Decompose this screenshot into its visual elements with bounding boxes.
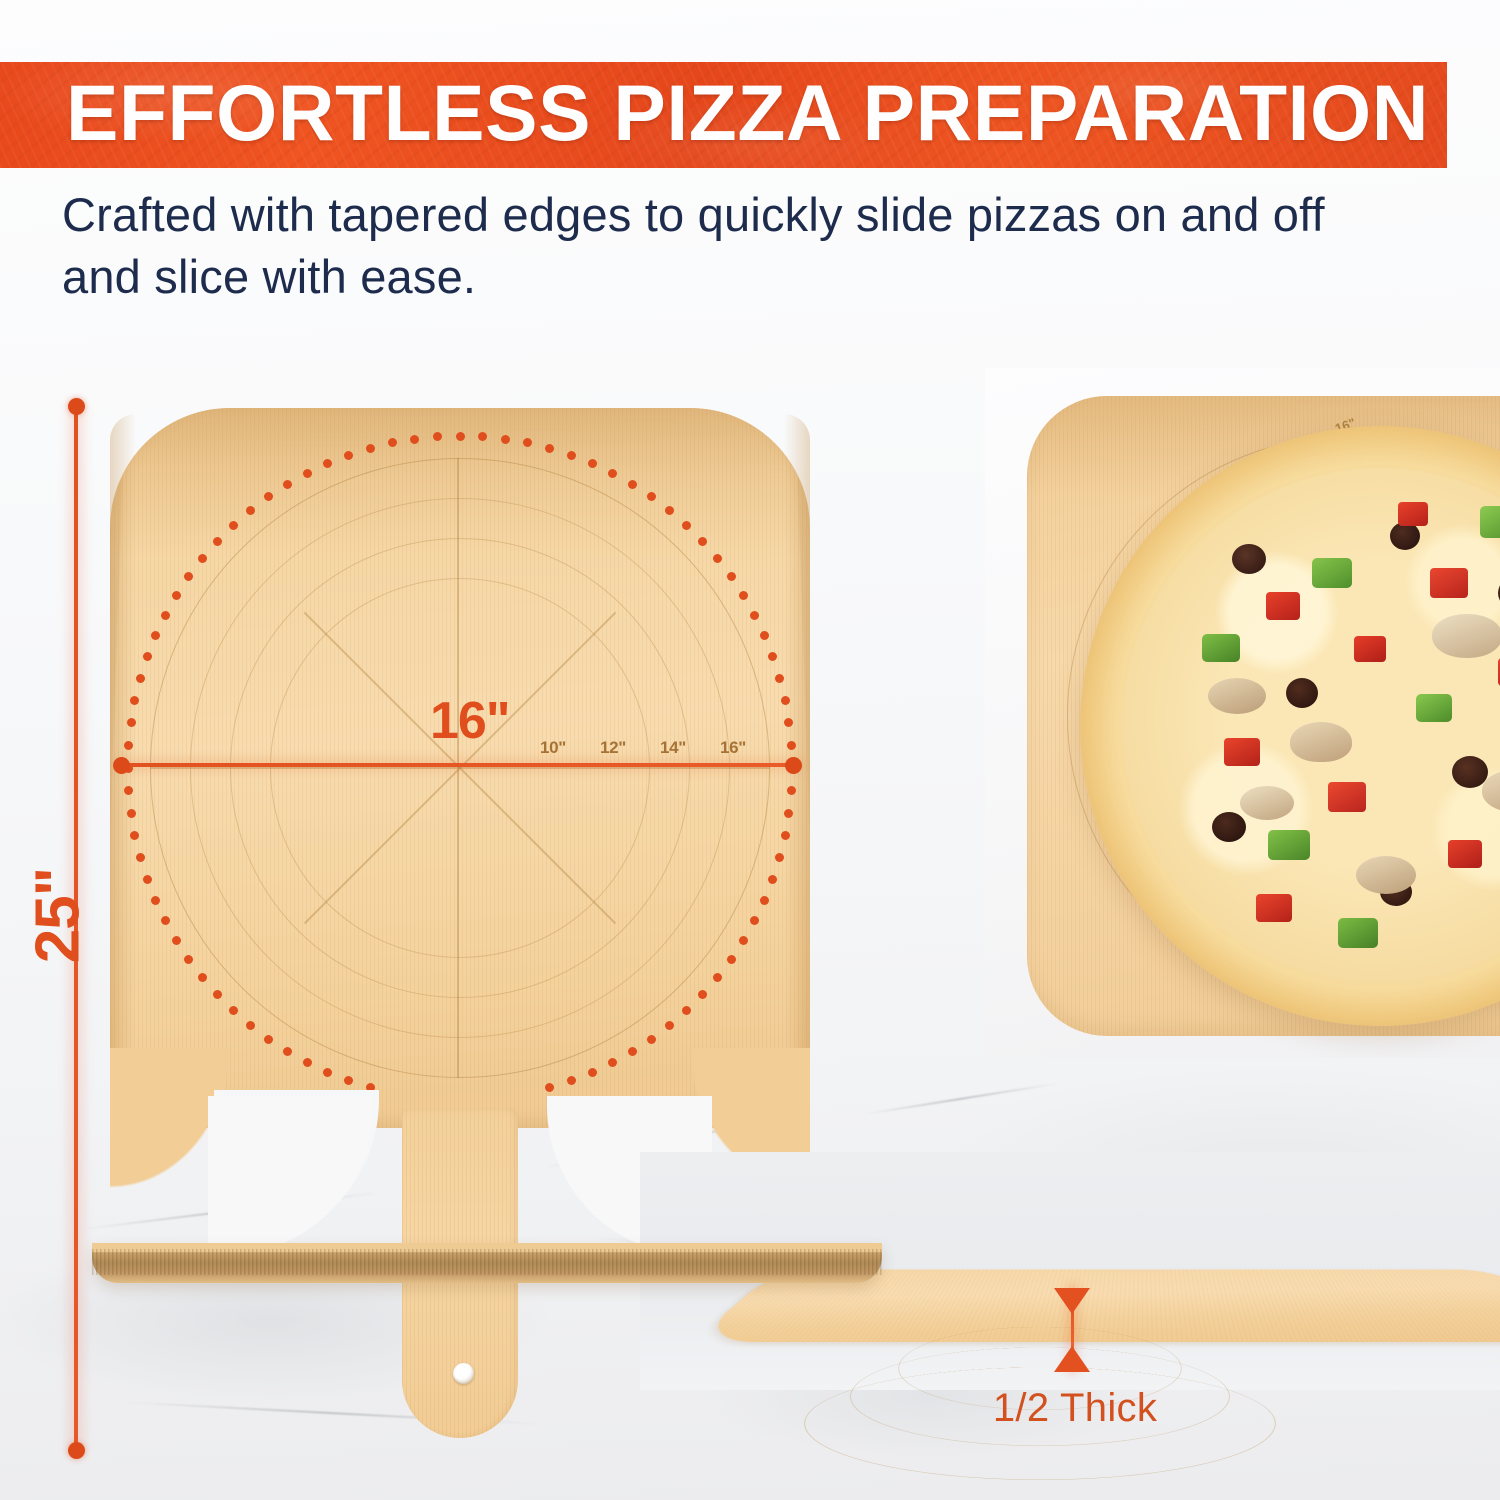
topping-green-pepper xyxy=(1268,830,1310,860)
thickness-arrow-up-icon xyxy=(1054,1346,1090,1372)
topping-red-pepper xyxy=(1354,636,1386,662)
ruler-tick-14: 14" xyxy=(660,738,686,758)
width-measure-endpoint-left xyxy=(113,757,130,774)
topping-green-pepper xyxy=(1416,694,1452,722)
topping-red-pepper xyxy=(1430,568,1468,598)
topping-red-pepper xyxy=(1256,894,1292,922)
topping-green-pepper xyxy=(1202,634,1240,662)
topping-red-pepper xyxy=(1328,782,1366,812)
photo-pizza-on-board: 16" xyxy=(985,368,1500,1058)
peel-neck-cut-left xyxy=(208,1096,373,1256)
thickness-label: 1/2 Thick xyxy=(940,1386,1210,1431)
topping-mushroom xyxy=(1240,786,1294,820)
height-measure-endpoint-bottom xyxy=(68,1442,85,1459)
topping-green-pepper xyxy=(1480,506,1500,538)
page-title: EFFORTLESS PIZZA PREPARATION xyxy=(66,74,1429,153)
subtitle-text: Crafted with tapered edges to quickly sl… xyxy=(62,184,1382,308)
width-measure-endpoint-right xyxy=(785,757,802,774)
ruler-tick-16: 16" xyxy=(720,738,746,758)
topping-mushroom xyxy=(1290,722,1352,762)
width-measure-line xyxy=(120,763,800,767)
topping-mushroom xyxy=(1432,614,1500,658)
topping-olive xyxy=(1390,522,1420,550)
width-label: 16" xyxy=(430,691,510,751)
infographic-canvas: EFFORTLESS PIZZA PREPARATION Crafted wit… xyxy=(0,0,1500,1500)
topping-olive xyxy=(1232,544,1266,574)
topping-green-pepper xyxy=(1338,918,1378,948)
topping-mushroom xyxy=(1356,856,1416,894)
thickness-arrow-down-icon xyxy=(1054,1288,1090,1314)
topping-red-pepper xyxy=(1224,738,1260,766)
ruler-tick-12: 12" xyxy=(600,738,626,758)
bamboo-board-edge-profile xyxy=(92,1243,882,1283)
topping-red-pepper xyxy=(1398,502,1428,526)
height-measure-endpoint-top xyxy=(68,398,85,415)
topping-red-pepper xyxy=(1448,840,1482,868)
ruler-tick-10: 10" xyxy=(540,738,566,758)
topping-olive xyxy=(1212,812,1246,842)
topping-red-pepper xyxy=(1266,592,1300,620)
topping-green-pepper xyxy=(1312,558,1352,588)
handle-hang-hole xyxy=(453,1363,474,1384)
topping-mushroom xyxy=(1208,678,1266,714)
header-banner: EFFORTLESS PIZZA PREPARATION xyxy=(0,62,1447,168)
height-label: 25" xyxy=(23,856,94,976)
topping-olive xyxy=(1286,678,1318,708)
